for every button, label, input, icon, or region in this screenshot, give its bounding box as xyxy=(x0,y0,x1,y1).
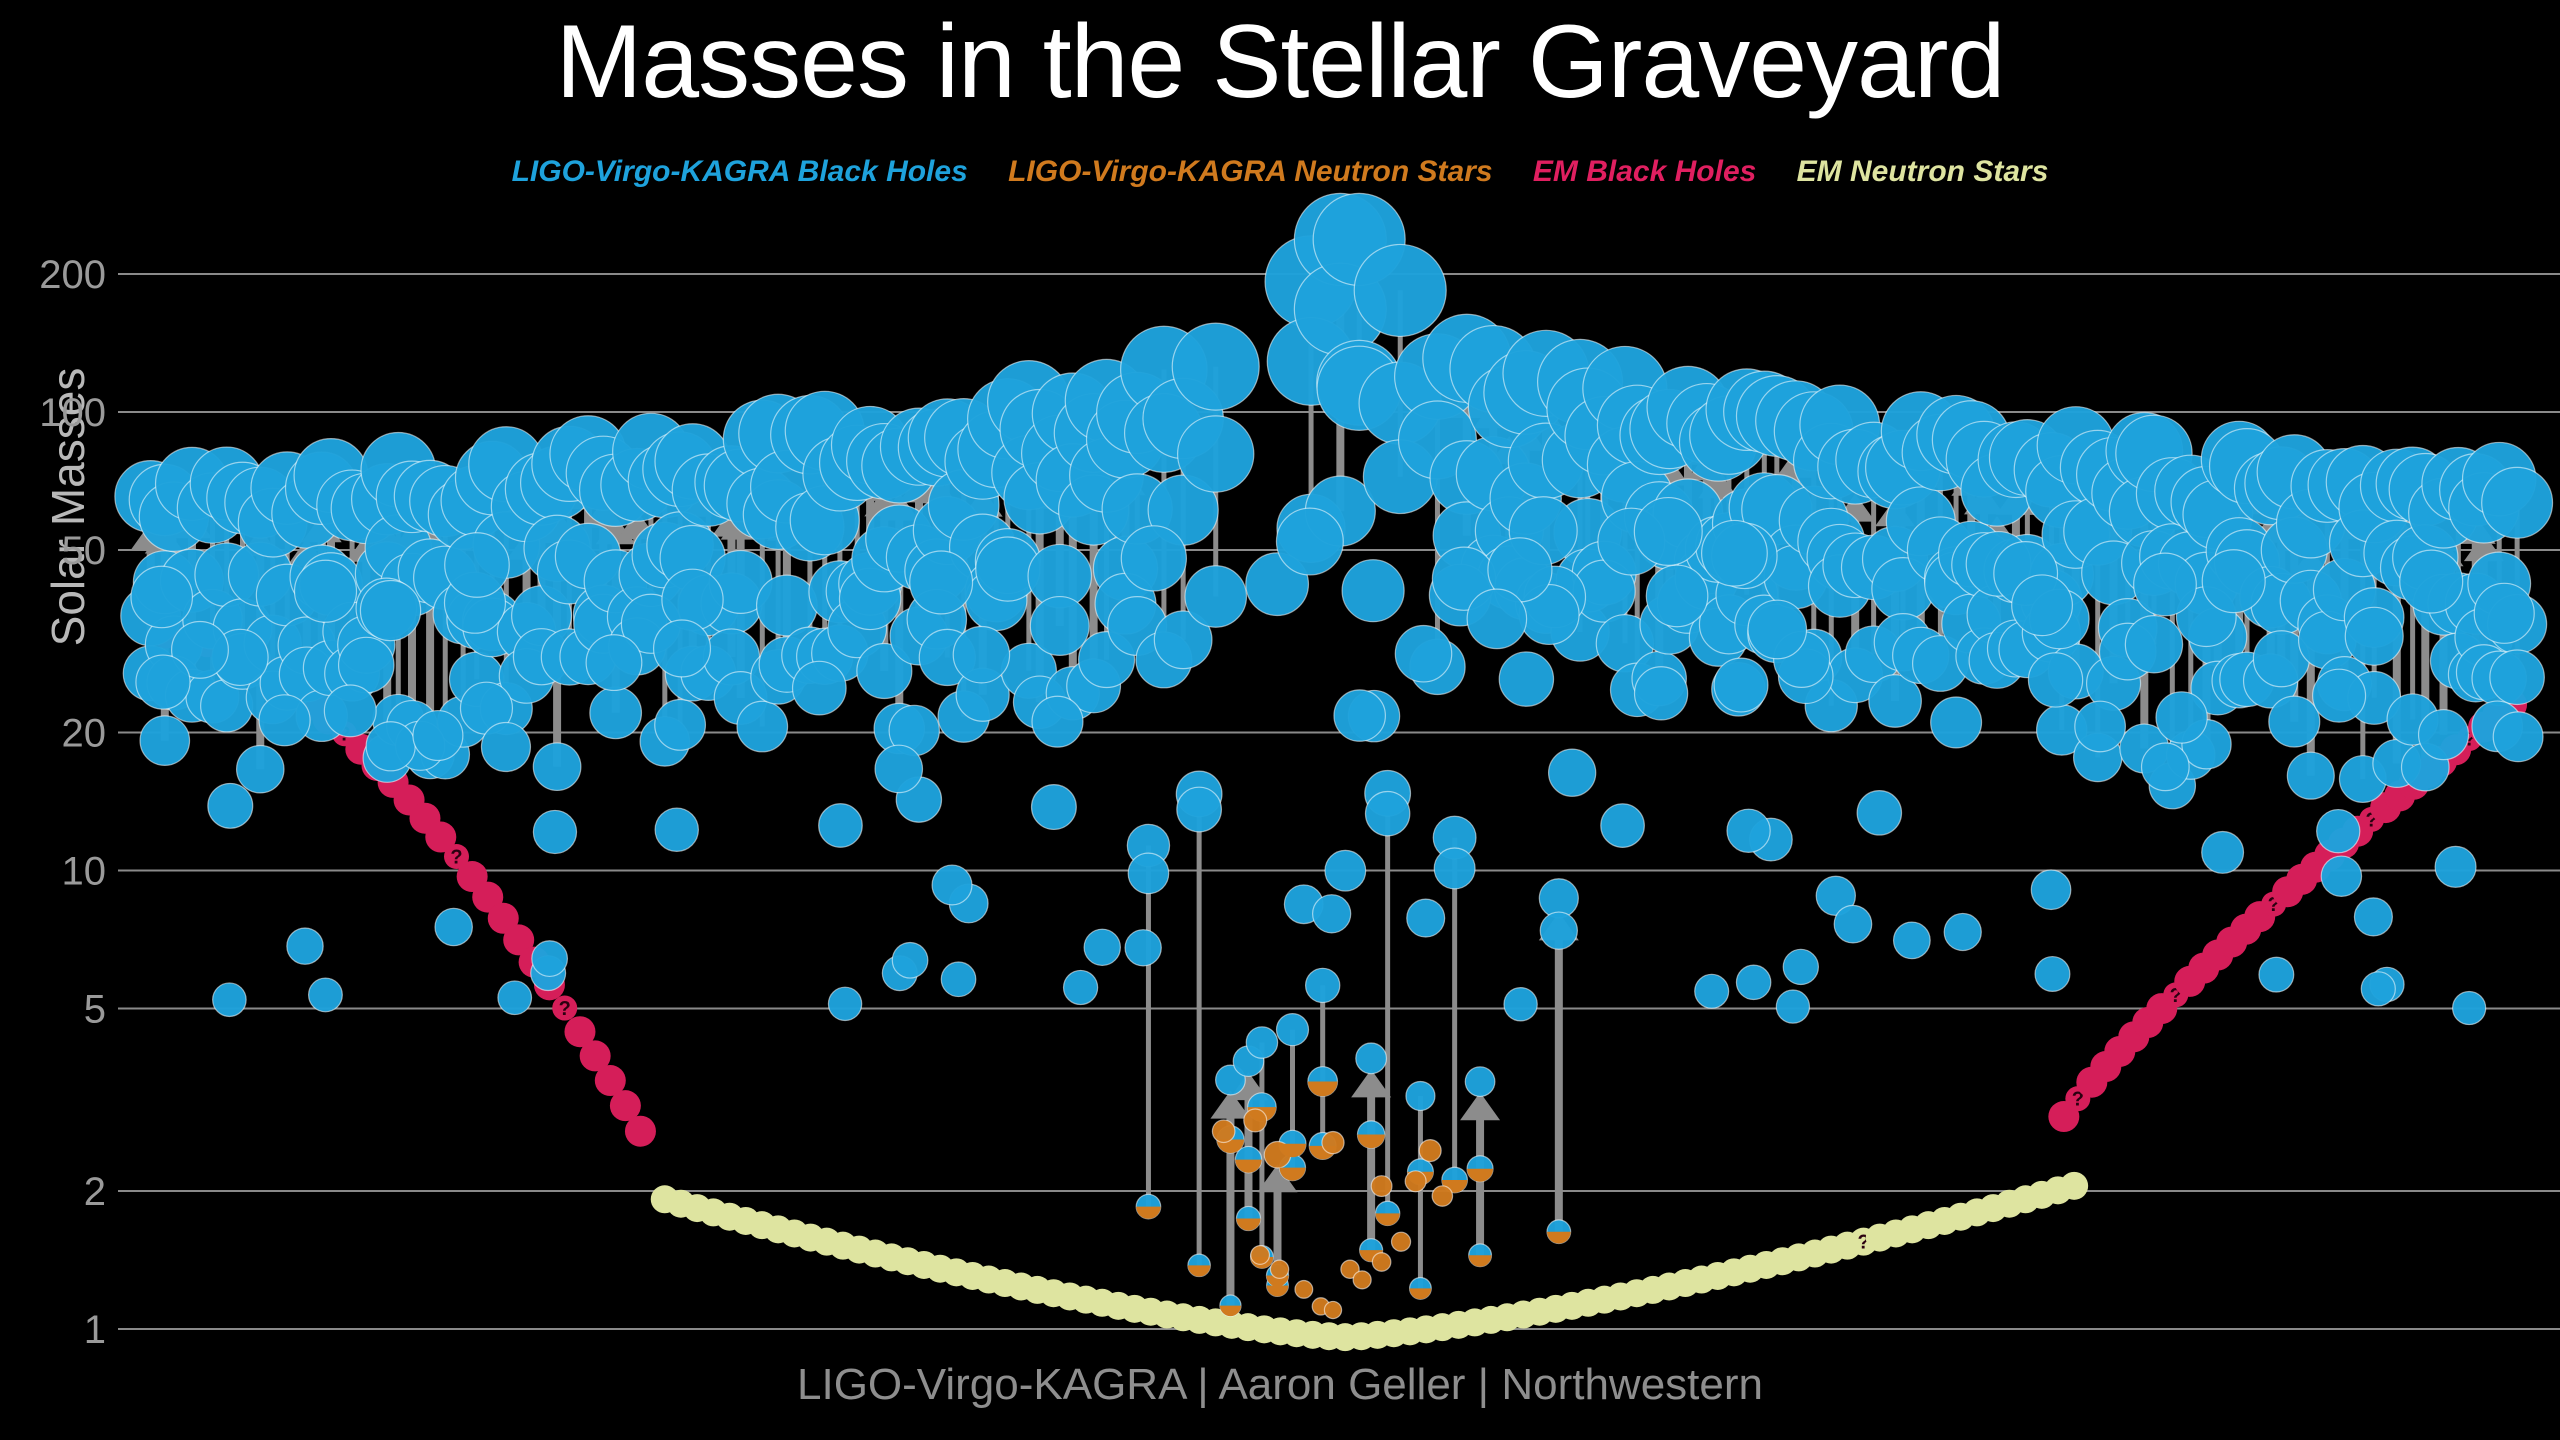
lvk-black-hole-marker[interactable] xyxy=(1834,905,1872,943)
merger-arrow xyxy=(1539,912,1579,1231)
lvk-neutron-star-marker[interactable] xyxy=(1188,1265,1210,1276)
lvk-black-hole-marker[interactable] xyxy=(2482,467,2553,538)
y-tick-label: 20 xyxy=(62,711,107,755)
lvk-black-hole-marker[interactable] xyxy=(2453,991,2486,1024)
lvk-black-hole-marker[interactable] xyxy=(1177,787,1222,832)
lvk-black-hole-marker[interactable] xyxy=(910,551,973,614)
lvk-black-hole-marker[interactable] xyxy=(1783,949,1818,984)
lvk-black-hole-marker[interactable] xyxy=(324,685,376,737)
lvk-black-hole-marker[interactable] xyxy=(1128,853,1169,894)
lvk-black-hole-marker[interactable] xyxy=(1406,1081,1435,1110)
lvk-black-hole-marker[interactable] xyxy=(533,743,581,791)
lvk-black-hole-marker[interactable] xyxy=(1702,520,1768,586)
lvk-black-hole-marker[interactable] xyxy=(2345,607,2403,665)
lvk-black-hole-marker[interactable] xyxy=(2142,743,2190,791)
lvk-black-hole-marker[interactable] xyxy=(1354,244,1446,336)
lvk-black-hole-marker[interactable] xyxy=(932,865,972,905)
lvk-black-hole-marker[interactable] xyxy=(1125,930,1161,966)
lvk-black-hole-marker[interactable] xyxy=(1714,658,1768,712)
lvk-black-hole-marker[interactable] xyxy=(1325,850,1366,891)
lvk-black-hole-marker[interactable] xyxy=(140,716,190,766)
lvk-neutron-star-marker[interactable] xyxy=(1270,1260,1288,1278)
lvk-black-hole-marker[interactable] xyxy=(953,627,1009,683)
lvk-black-hole-marker[interactable] xyxy=(1276,508,1343,575)
lvk-black-hole-marker[interactable] xyxy=(2012,575,2073,636)
lvk-black-hole-marker[interactable] xyxy=(2075,701,2126,752)
lvk-black-hole-marker[interactable] xyxy=(1313,895,1351,933)
y-tick-label: 100 xyxy=(39,391,106,435)
y-tick-label: 200 xyxy=(39,253,106,297)
lvk-black-hole-marker[interactable] xyxy=(2419,710,2469,760)
lvk-black-hole-marker[interactable] xyxy=(1306,968,1340,1002)
em-black-hole-marker[interactable] xyxy=(625,1116,656,1147)
lvk-black-hole-marker[interactable] xyxy=(2287,752,2334,799)
lvk-black-hole-marker[interactable] xyxy=(2259,957,2294,992)
lvk-black-hole-marker[interactable] xyxy=(2134,553,2197,616)
lvk-black-hole-marker[interactable] xyxy=(413,711,463,761)
lvk-black-hole-marker[interactable] xyxy=(1407,899,1445,937)
lvk-neutron-star-marker[interactable] xyxy=(1244,1109,1267,1132)
lvk-black-hole-marker[interactable] xyxy=(1276,1014,1308,1046)
lvk-black-hole-marker[interactable] xyxy=(136,655,190,709)
lvk-black-hole-marker[interactable] xyxy=(2474,583,2534,643)
lvk-black-hole-marker[interactable] xyxy=(1944,913,1981,950)
lvk-black-hole-marker[interactable] xyxy=(131,566,192,627)
lvk-black-hole-marker[interactable] xyxy=(941,962,976,997)
lvk-black-hole-marker[interactable] xyxy=(590,687,642,739)
lvk-black-hole-marker[interactable] xyxy=(655,808,698,851)
uncertain-mass-marker: ? xyxy=(450,846,462,868)
lvk-black-hole-marker[interactable] xyxy=(1064,970,1098,1004)
lvk-black-hole-marker[interactable] xyxy=(1032,785,1077,830)
lvk-black-hole-marker[interactable] xyxy=(366,722,415,771)
y-tick-label: 50 xyxy=(62,529,107,573)
lvk-neutron-star-marker[interactable] xyxy=(1236,1218,1260,1230)
em-neutron-star-marker[interactable] xyxy=(2060,1172,2088,1200)
lvk-black-hole-marker[interactable] xyxy=(1185,566,1247,628)
lvk-black-hole-marker[interactable] xyxy=(339,637,394,692)
lvk-black-hole-marker[interactable] xyxy=(208,783,253,828)
lvk-black-hole-marker[interactable] xyxy=(1695,974,1729,1008)
lvk-neutron-star-marker[interactable] xyxy=(1410,1288,1432,1299)
lvk-black-hole-marker[interactable] xyxy=(1540,912,1577,949)
lvk-black-hole-marker[interactable] xyxy=(1635,667,1688,720)
lvk-black-hole-marker[interactable] xyxy=(295,560,357,622)
y-tick-label: 2 xyxy=(84,1170,106,1214)
lvk-neutron-star-marker[interactable] xyxy=(1419,1140,1441,1162)
lvk-black-hole-marker[interactable] xyxy=(1736,965,1770,999)
lvk-black-hole-marker[interactable] xyxy=(1121,526,1186,591)
lvk-black-hole-marker[interactable] xyxy=(1748,600,1807,659)
lvk-neutron-star-marker[interactable] xyxy=(1469,1255,1492,1266)
lvk-black-hole-marker[interactable] xyxy=(1504,988,1537,1021)
lvk-black-hole-marker[interactable] xyxy=(1634,498,1702,566)
lvk-black-hole-marker[interactable] xyxy=(259,695,310,746)
chart-canvas: Masses in the Stellar Graveyard LIGO-Vir… xyxy=(0,0,2560,1440)
y-tick-label: 1 xyxy=(84,1308,106,1352)
lvk-black-hole-marker[interactable] xyxy=(1365,792,1409,836)
lvk-black-hole-marker[interactable] xyxy=(2156,692,2207,743)
lvk-black-hole-marker[interactable] xyxy=(2269,696,2320,747)
lvk-black-hole-marker[interactable] xyxy=(1646,565,1708,627)
lvk-black-hole-marker[interactable] xyxy=(2490,650,2544,704)
lvk-black-hole-marker[interactable] xyxy=(532,941,568,977)
lvk-black-hole-marker[interactable] xyxy=(1931,697,1982,748)
lvk-neutron-star-marker[interactable] xyxy=(1251,1246,1270,1265)
lvk-black-hole-marker[interactable] xyxy=(1727,809,1770,852)
lvk-black-hole-marker[interactable] xyxy=(1246,1027,1277,1058)
lvk-black-hole-marker[interactable] xyxy=(662,569,723,630)
lvk-neutron-star-marker[interactable] xyxy=(1353,1271,1371,1289)
lvk-black-hole-marker[interactable] xyxy=(737,701,788,752)
lvk-neutron-star-marker[interactable] xyxy=(1432,1186,1452,1206)
lvk-black-hole-marker[interactable] xyxy=(1172,323,1259,410)
lvk-neutron-star-marker[interactable] xyxy=(1308,1081,1338,1096)
lvk-black-hole-marker[interactable] xyxy=(309,978,343,1012)
lvk-black-hole-marker[interactable] xyxy=(213,983,247,1017)
lvk-black-hole-marker[interactable] xyxy=(2125,616,2182,673)
plot-area: 200100502010521 ? ????????? xyxy=(0,0,2560,1440)
lvk-neutron-star-marker[interactable] xyxy=(1375,1213,1399,1225)
lvk-black-hole-marker[interactable] xyxy=(828,987,861,1020)
lvk-neutron-star-marker[interactable] xyxy=(1405,1171,1426,1192)
lvk-black-hole-marker[interactable] xyxy=(1356,1043,1387,1074)
lvk-black-hole-marker[interactable] xyxy=(1857,791,1901,835)
lvk-neutron-star-marker[interactable] xyxy=(1324,1301,1341,1318)
lvk-black-hole-marker[interactable] xyxy=(1334,690,1385,741)
lvk-black-hole-marker[interactable] xyxy=(2031,870,2071,910)
lvk-black-hole-marker[interactable] xyxy=(2400,550,2463,613)
lvk-black-hole-marker[interactable] xyxy=(586,635,642,691)
lvk-black-hole-marker[interactable] xyxy=(2202,831,2244,873)
lvk-neutron-star-marker[interactable] xyxy=(1371,1176,1392,1197)
lvk-black-hole-marker[interactable] xyxy=(1084,929,1120,965)
lvk-black-hole-marker[interactable] xyxy=(875,745,922,792)
lvk-neutron-star-marker[interactable] xyxy=(1235,1160,1261,1173)
lvk-black-hole-marker[interactable] xyxy=(819,804,863,848)
lvk-black-hole-marker[interactable] xyxy=(2202,550,2265,613)
lvk-black-hole-marker[interactable] xyxy=(655,700,706,751)
lvk-neutron-star-marker[interactable] xyxy=(1392,1232,1411,1251)
chart-credit: LIGO-Virgo-KAGRA | Aaron Geller | Northw… xyxy=(0,1360,2560,1410)
lvk-black-hole-marker[interactable] xyxy=(1178,416,1254,492)
lvk-black-hole-marker[interactable] xyxy=(2361,972,2395,1006)
y-tick-labels-group: 200100502010521 xyxy=(39,253,106,1352)
lvk-neutron-star-marker[interactable] xyxy=(1267,1286,1289,1297)
lvk-black-hole-marker[interactable] xyxy=(237,745,284,792)
lvk-black-hole-marker[interactable] xyxy=(1032,696,1083,747)
uncertain-mass-marker: ? xyxy=(559,998,571,1020)
lvk-black-hole-marker[interactable] xyxy=(2493,712,2543,762)
lvk-black-hole-marker[interactable] xyxy=(2313,669,2366,722)
lvk-neutron-star-marker[interactable] xyxy=(1322,1132,1344,1154)
lvk-black-hole-marker[interactable] xyxy=(1467,589,1526,648)
lvk-neutron-star-marker[interactable] xyxy=(1212,1120,1235,1143)
y-tick-label: 10 xyxy=(62,850,107,894)
lvk-black-hole-marker[interactable] xyxy=(1499,652,1553,706)
lvk-black-hole-marker[interactable] xyxy=(2317,810,2360,853)
lvk-black-hole-marker[interactable] xyxy=(1465,1067,1495,1097)
lvk-black-hole-marker[interactable] xyxy=(1434,848,1475,889)
lvk-black-hole-marker[interactable] xyxy=(2035,957,2070,992)
lvk-black-hole-marker[interactable] xyxy=(360,580,420,640)
lvk-black-hole-marker[interactable] xyxy=(1395,625,1451,681)
lvk-neutron-star-marker[interactable] xyxy=(1467,1169,1493,1182)
lvk-black-hole-marker[interactable] xyxy=(1601,804,1645,848)
scatter-plot-svg: 200100502010521 ? ????????? xyxy=(0,0,2560,1440)
lvk-black-hole-marker[interactable] xyxy=(654,620,711,677)
lvk-black-hole-marker[interactable] xyxy=(2321,856,2361,896)
lvk-black-hole-marker[interactable] xyxy=(533,810,576,853)
lvk-black-hole-marker[interactable] xyxy=(1549,749,1596,796)
lvk-neutron-star-marker[interactable] xyxy=(1547,1232,1571,1244)
lvk-black-hole-marker[interactable] xyxy=(445,533,509,597)
lvk-black-hole-marker[interactable] xyxy=(793,661,847,715)
lvk-black-hole-marker[interactable] xyxy=(481,722,530,771)
lvk-black-hole-marker[interactable] xyxy=(892,942,928,978)
lvk-black-hole-marker[interactable] xyxy=(1894,922,1931,959)
lvk-black-hole-marker[interactable] xyxy=(435,908,472,945)
lvk-black-hole-marker[interactable] xyxy=(1030,597,1089,656)
lvk-black-hole-marker[interactable] xyxy=(287,928,323,964)
y-tick-label: 5 xyxy=(84,988,106,1032)
lvk-black-hole-marker[interactable] xyxy=(1776,990,1809,1023)
lvk-neutron-star-marker[interactable] xyxy=(1372,1253,1391,1272)
lvk-black-hole-marker[interactable] xyxy=(1342,560,1404,622)
lvk-black-hole-marker[interactable] xyxy=(498,981,532,1015)
lvk-neutron-star-marker[interactable] xyxy=(1295,1281,1313,1299)
lvk-black-hole-marker[interactable] xyxy=(2354,898,2392,936)
lvk-black-hole-marker[interactable] xyxy=(2435,846,2476,887)
lvk-neutron-star-marker[interactable] xyxy=(1136,1207,1161,1219)
lvk-neutron-star-marker[interactable] xyxy=(1357,1135,1384,1149)
lvk-black-hole-marker[interactable] xyxy=(2028,653,2082,707)
